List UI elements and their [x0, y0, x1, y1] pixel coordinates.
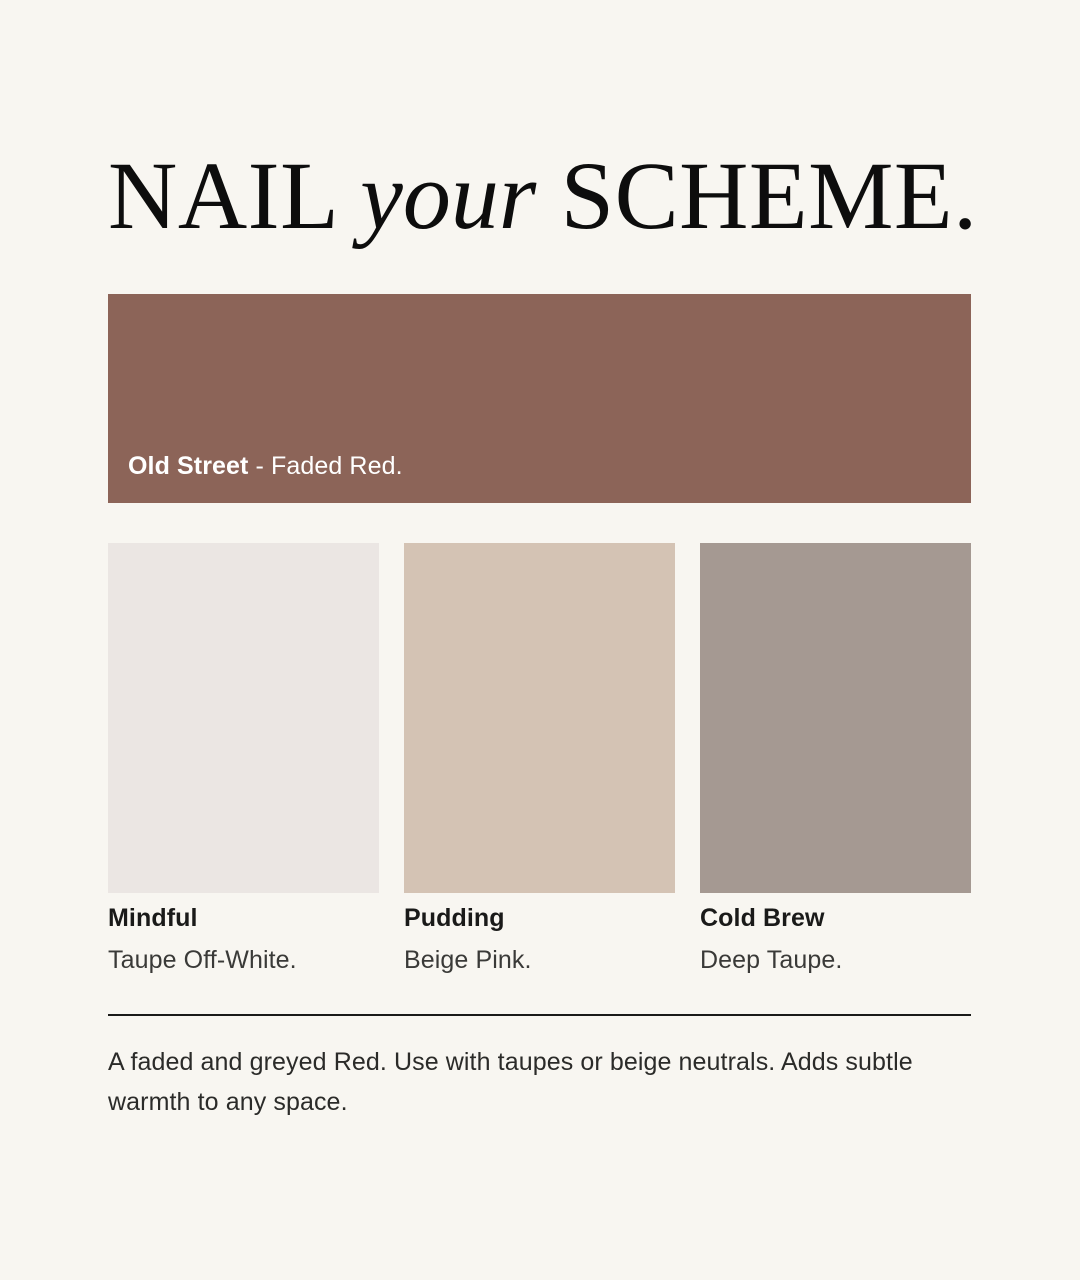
color-name: Cold Brew [700, 906, 971, 931]
footer-note: A faded and greyed Red. Use with taupes … [108, 1042, 948, 1122]
title-word-scheme: SCHEME. [561, 142, 978, 249]
hero-color-swatch: Old Street - Faded Red. [108, 294, 971, 503]
color-name: Pudding [404, 906, 675, 931]
color-description: Deep Taupe. [700, 948, 971, 973]
palette-caption-cold-brew: Cold Brew Deep Taupe. [700, 906, 971, 973]
hero-color-description: - Faded Red. [248, 452, 402, 480]
divider [108, 1014, 971, 1016]
swatch-chip [108, 543, 379, 893]
color-scheme-card: NAIL your SCHEME. Old Street - Faded Red… [0, 0, 1080, 1280]
palette-swatch-cold-brew [700, 543, 971, 893]
palette-caption-mindful: Mindful Taupe Off-White. [108, 906, 379, 973]
color-description: Taupe Off-White. [108, 948, 379, 973]
palette-swatch-row [108, 543, 971, 893]
palette-swatch-mindful [108, 543, 379, 893]
color-name: Mindful [108, 906, 379, 931]
swatch-chip [404, 543, 675, 893]
title-word-your: your [360, 142, 536, 249]
palette-caption-row: Mindful Taupe Off-White. Pudding Beige P… [108, 906, 971, 973]
title-word-nail: NAIL [108, 142, 336, 249]
hero-color-name: Old Street [128, 452, 248, 480]
palette-caption-pudding: Pudding Beige Pink. [404, 906, 675, 973]
swatch-chip [700, 543, 971, 893]
color-description: Beige Pink. [404, 948, 675, 973]
palette-swatch-pudding [404, 543, 675, 893]
page-title: NAIL your SCHEME. [108, 148, 1008, 244]
hero-swatch-label: Old Street - Faded Red. [128, 452, 403, 481]
